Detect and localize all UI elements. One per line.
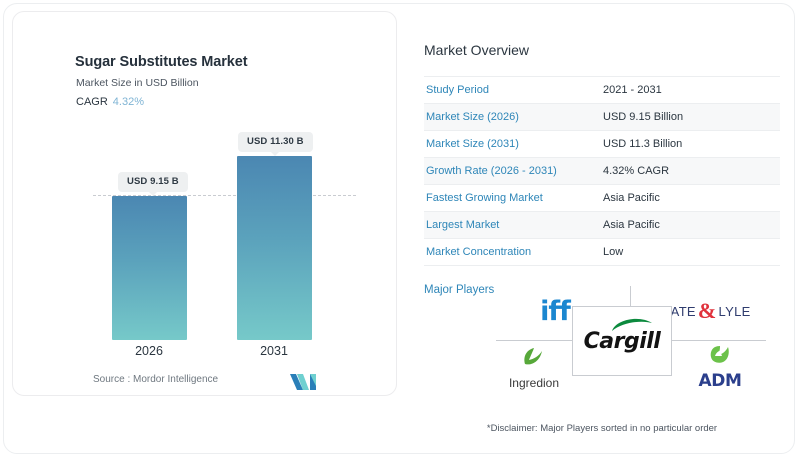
category-label-2026: 2026	[104, 344, 194, 358]
table-row: Growth Rate (2026 - 2031) 4.32% CAGR	[424, 158, 780, 185]
row-value: USD 9.15 Billion	[601, 104, 780, 131]
row-label: Market Concentration	[424, 239, 601, 266]
adm-leaf-icon	[709, 345, 731, 370]
table-row: Study Period 2021 - 2031	[424, 77, 780, 104]
ampersand-icon: &	[698, 300, 717, 322]
market-summary-infographic: Sugar Substitutes Market Market Size in …	[0, 0, 800, 459]
bar-2031	[237, 156, 312, 340]
row-label: Market Size (2026)	[424, 104, 601, 131]
player-logo-cargill: Cargill	[572, 306, 672, 376]
source-label: Source : Mordor Intelligence	[93, 374, 218, 385]
chart-subtitle: Market Size in USD Billion	[76, 77, 199, 89]
cagr-label: CAGR	[76, 96, 108, 108]
market-overview-panel: Market Overview Study Period 2021 - 2031…	[424, 42, 780, 296]
disclaimer-text: *Disclaimer: Major Players sorted in no …	[424, 423, 780, 434]
category-label-2031: 2031	[229, 344, 319, 358]
iff-logo-icon: iff	[540, 298, 570, 325]
row-label: Study Period	[424, 77, 601, 104]
table-row: Fastest Growing Market Asia Pacific	[424, 185, 780, 212]
table-row: Market Size (2026) USD 9.15 Billion	[424, 104, 780, 131]
row-value: Low	[601, 239, 780, 266]
row-value: USD 11.3 Billion	[601, 131, 780, 158]
row-label: Fastest Growing Market	[424, 185, 601, 212]
ingredion-wordmark: Ingredion	[509, 376, 559, 390]
row-label: Growth Rate (2026 - 2031)	[424, 158, 601, 185]
chart-title: Sugar Substitutes Market	[75, 54, 247, 70]
row-label: Largest Market	[424, 212, 601, 239]
row-label: Market Size (2031)	[424, 131, 601, 158]
player-logo-adm: ADM	[682, 344, 758, 392]
row-value: Asia Pacific	[601, 185, 780, 212]
row-value: 2021 - 2031	[601, 77, 780, 104]
adm-wordmark: ADM	[699, 371, 742, 391]
ingredion-leaf-icon	[522, 347, 546, 374]
data-label-2031: USD 11.30 B	[238, 132, 313, 152]
bar-chart-plot-area: USD 9.15 B USD 11.30 B 2026 2031	[25, 122, 395, 342]
tate-lyle-logo-icon: TATE & LYLE	[663, 300, 750, 322]
table-row: Market Size (2031) USD 11.3 Billion	[424, 131, 780, 158]
row-value: Asia Pacific	[601, 212, 780, 239]
data-label-2026: USD 9.15 B	[118, 172, 188, 192]
cagr-line: CAGR4.32%	[76, 96, 144, 108]
table-row: Largest Market Asia Pacific	[424, 212, 780, 239]
major-players-logo-grid: iff TATE & LYLE Ingredion Cargill	[490, 286, 770, 396]
cagr-value: 4.32%	[113, 96, 144, 108]
chart-card: Sugar Substitutes Market Market Size in …	[12, 11, 397, 396]
cargill-logo-icon: Cargill	[584, 329, 661, 354]
mordor-intelligence-logo-icon	[289, 372, 319, 392]
table-row: Market Concentration Low	[424, 239, 780, 266]
cargill-wordmark: Cargill	[584, 329, 661, 354]
player-logo-ingredion: Ingredion	[496, 344, 572, 392]
lyle-word: LYLE	[719, 304, 751, 319]
bar-2026	[112, 196, 187, 340]
row-value: 4.32% CAGR	[601, 158, 780, 185]
overview-title: Market Overview	[424, 42, 780, 58]
overview-table: Study Period 2021 - 2031 Market Size (20…	[424, 76, 780, 266]
